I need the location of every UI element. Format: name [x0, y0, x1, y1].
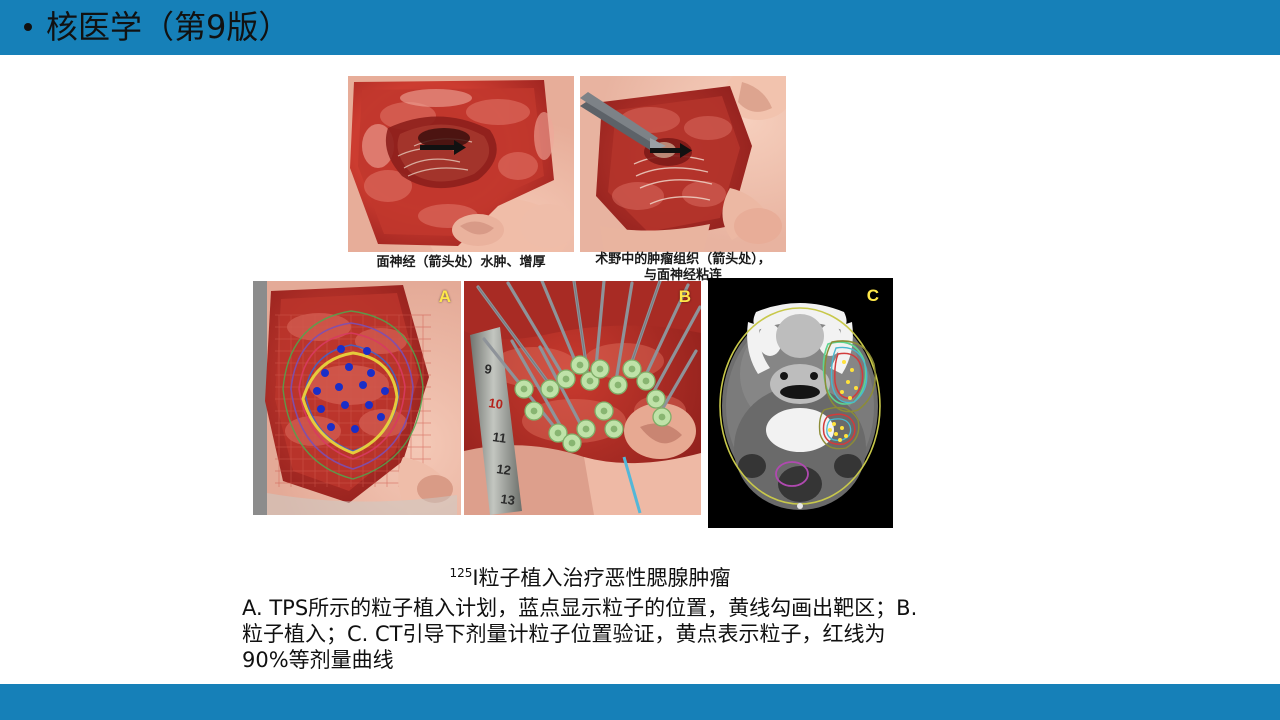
svg-text:12: 12: [496, 461, 512, 478]
figure-caption-title: 125I粒子植入治疗恶性腮腺肿瘤: [240, 565, 940, 591]
svg-text:13: 13: [500, 491, 516, 508]
isotope-caption-text: I粒子植入治疗恶性腮腺肿瘤: [472, 566, 730, 590]
panel-c-graphic: [708, 278, 893, 528]
isotope-superscript: 125: [449, 566, 472, 580]
panel-a-graphic: [253, 281, 461, 515]
footer-bar: [0, 684, 1280, 720]
page-title: 核医学（第9版）: [46, 9, 290, 45]
svg-text:10: 10: [488, 395, 504, 412]
bullet-dot-icon: [24, 23, 32, 31]
tps-plan-photo: A: [253, 281, 461, 515]
caption-line: 面神经（箭头处）水肿、增厚: [376, 255, 545, 270]
surgical-field-facial-nerve-photo: [348, 76, 574, 252]
tumor-photo-graphic: [580, 76, 786, 252]
slide: 核医学（第9版）: [0, 0, 1280, 720]
surgical-field-tumor-photo: [580, 76, 786, 252]
panel-letter-a: A: [439, 287, 451, 307]
caption-line: 术野中的肿瘤组织（箭头处），: [575, 252, 791, 268]
svg-text:11: 11: [492, 429, 508, 446]
ct-dose-verification-image: C: [708, 278, 893, 528]
figure-caption-body: A. TPS所示的粒子植入计划，蓝点显示粒子的位置，黄线勾画出靶区；B. 粒子植…: [242, 595, 932, 673]
facial-nerve-photo-graphic: [348, 76, 574, 252]
caption-facial-nerve: 面神经（箭头处）水肿、增厚: [348, 255, 574, 271]
panel-b-graphic: 9 10 11 12 13: [464, 281, 701, 515]
header-bar: 核医学（第9版）: [0, 0, 1280, 55]
panel-letter-c: C: [867, 286, 879, 306]
seed-implantation-photo: 9 10 11 12 13: [464, 281, 701, 515]
header-title-row: 核医学（第9版）: [24, 4, 290, 50]
panel-letter-b: B: [679, 287, 691, 307]
figure-area: 面神经（箭头处）水肿、增厚: [0, 55, 1280, 684]
